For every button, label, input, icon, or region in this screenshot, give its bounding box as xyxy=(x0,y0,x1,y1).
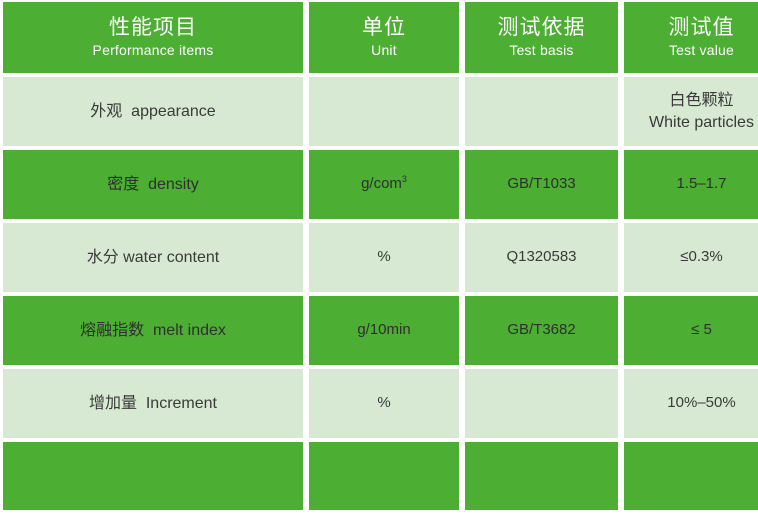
cell-text-item: 水分 water content xyxy=(87,248,220,268)
column-header-test-value-cn: 测试值 xyxy=(669,15,735,41)
cell-text-value: ≤0.3% xyxy=(680,248,722,267)
cell-test-basis xyxy=(465,442,618,510)
cell-unit: % xyxy=(309,223,459,292)
cell-test-basis: GB/T1033 xyxy=(465,150,618,219)
cell-text-unit: g/com3 xyxy=(361,175,407,194)
cell-text-unit: % xyxy=(377,248,390,267)
cell-text-value: 10%–50% xyxy=(667,394,735,413)
cell-text-basis: GB/T1033 xyxy=(507,175,575,194)
cell-test-value: ≤0.3% xyxy=(624,223,758,292)
cell-test-value: 白色颗粒 White particles xyxy=(624,77,758,146)
cell-text-item: 熔融指数 melt index xyxy=(80,321,226,341)
cell-text-item: 增加量 Increment xyxy=(89,394,217,414)
cell-text-basis: Q1320583 xyxy=(506,248,576,267)
cell-unit: g/com3 xyxy=(309,150,459,219)
column-header-unit-cn: 单位 xyxy=(362,15,406,41)
cell-text-value: ≤ 5 xyxy=(691,321,712,340)
cell-performance-item: 外观 appearance xyxy=(3,77,303,146)
column-header-performance-items-en: Performance items xyxy=(93,42,214,60)
cell-text-value-en: White particles xyxy=(649,113,754,133)
cell-text-item: 密度 density xyxy=(107,175,199,195)
cell-text-value-cn: 白色颗粒 xyxy=(669,91,733,111)
table-row: 密度 density g/com3 GB/T1033 1.5–1.7 xyxy=(0,148,758,221)
cell-test-basis xyxy=(465,369,618,438)
column-header-unit: 单位 Unit xyxy=(309,2,459,73)
cell-text-value-group: 白色颗粒 White particles xyxy=(649,91,754,133)
cell-text-unit-base: g/com xyxy=(361,175,402,192)
table-row: 外观 appearance 白色颗粒 White particles xyxy=(0,75,758,148)
cell-test-value: 10%–50% xyxy=(624,369,758,438)
cell-test-basis: GB/T3682 xyxy=(465,296,618,365)
cell-text-item: 外观 appearance xyxy=(90,102,215,122)
cell-text-unit: g/10min xyxy=(357,321,410,340)
column-header-test-value: 测试值 Test value xyxy=(624,2,758,73)
cell-test-basis: Q1320583 xyxy=(465,223,618,292)
cell-test-value: ≤ 5 xyxy=(624,296,758,365)
table-row: 熔融指数 melt index g/10min GB/T3682 ≤ 5 xyxy=(0,294,758,367)
cell-performance-item: 熔融指数 melt index xyxy=(3,296,303,365)
cell-performance-item xyxy=(3,442,303,510)
cell-text-unit-superscript: 3 xyxy=(402,174,407,184)
column-header-unit-en: Unit xyxy=(371,42,397,60)
specification-table: 性能项目 Performance items 单位 Unit 测试依据 Test… xyxy=(0,0,758,515)
cell-performance-item: 增加量 Increment xyxy=(3,369,303,438)
cell-performance-item: 密度 density xyxy=(3,150,303,219)
column-header-test-basis: 测试依据 Test basis xyxy=(465,2,618,73)
table-row: 增加量 Increment % 10%–50% xyxy=(0,367,758,440)
cell-performance-item: 水分 water content xyxy=(3,223,303,292)
column-header-performance-items: 性能项目 Performance items xyxy=(3,2,303,73)
table-header-row: 性能项目 Performance items 单位 Unit 测试依据 Test… xyxy=(0,0,758,75)
cell-text-unit: % xyxy=(377,394,390,413)
table-row: 水分 water content % Q1320583 ≤0.3% xyxy=(0,221,758,294)
cell-text-basis: GB/T3682 xyxy=(507,321,575,340)
column-header-test-value-en: Test value xyxy=(669,42,734,60)
column-header-performance-items-cn: 性能项目 xyxy=(109,15,197,41)
table-row xyxy=(0,440,758,512)
cell-text-value: 1.5–1.7 xyxy=(676,175,726,194)
cell-unit xyxy=(309,77,459,146)
cell-unit xyxy=(309,442,459,510)
cell-test-basis xyxy=(465,77,618,146)
cell-unit: g/10min xyxy=(309,296,459,365)
cell-test-value xyxy=(624,442,758,510)
column-header-test-basis-cn: 测试依据 xyxy=(498,15,586,41)
column-header-test-basis-en: Test basis xyxy=(509,42,573,60)
cell-test-value: 1.5–1.7 xyxy=(624,150,758,219)
cell-unit: % xyxy=(309,369,459,438)
